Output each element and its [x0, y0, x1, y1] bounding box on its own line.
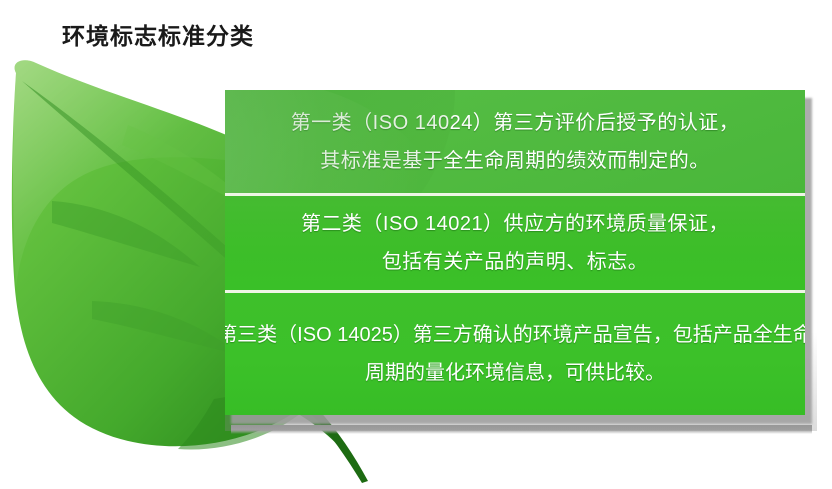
panel-iso-14021[interactable]: 第二类（ISO 14021）供应方的环境质量保证， 包括有关产品的声明、标志。 [225, 193, 805, 290]
slide-canvas: 环境标志标准分类 [0, 0, 832, 489]
panel-iso-14025-line-1: 第三类（ISO 14025）第三方确认的环境产品宣告，包括产品全生命 [225, 316, 805, 354]
panel-iso-14024-line-1: 第一类（ISO 14024）第三方评价后授予的认证， [291, 104, 740, 142]
panel-iso-14021-line-2: 包括有关产品的声明、标志。 [382, 243, 649, 281]
page-title: 环境标志标准分类 [62, 17, 254, 51]
panel-iso-14025[interactable]: 第三类（ISO 14025）第三方确认的环境产品宣告，包括产品全生命 周期的量化… [225, 290, 805, 415]
iso-category-panel-stack: 第一类（ISO 14024）第三方评价后授予的认证， 其标准是基于全生命周期的绩… [225, 90, 805, 415]
panel-iso-14024[interactable]: 第一类（ISO 14024）第三方评价后授予的认证， 其标准是基于全生命周期的绩… [225, 90, 805, 193]
panel-iso-14025-line-2: 周期的量化环境信息，可供比较。 [365, 354, 665, 392]
panel-iso-14021-line-1: 第二类（ISO 14021）供应方的环境质量保证， [301, 205, 729, 243]
panel-iso-14024-line-2: 其标准是基于全生命周期的绩效而制定的。 [320, 142, 710, 180]
